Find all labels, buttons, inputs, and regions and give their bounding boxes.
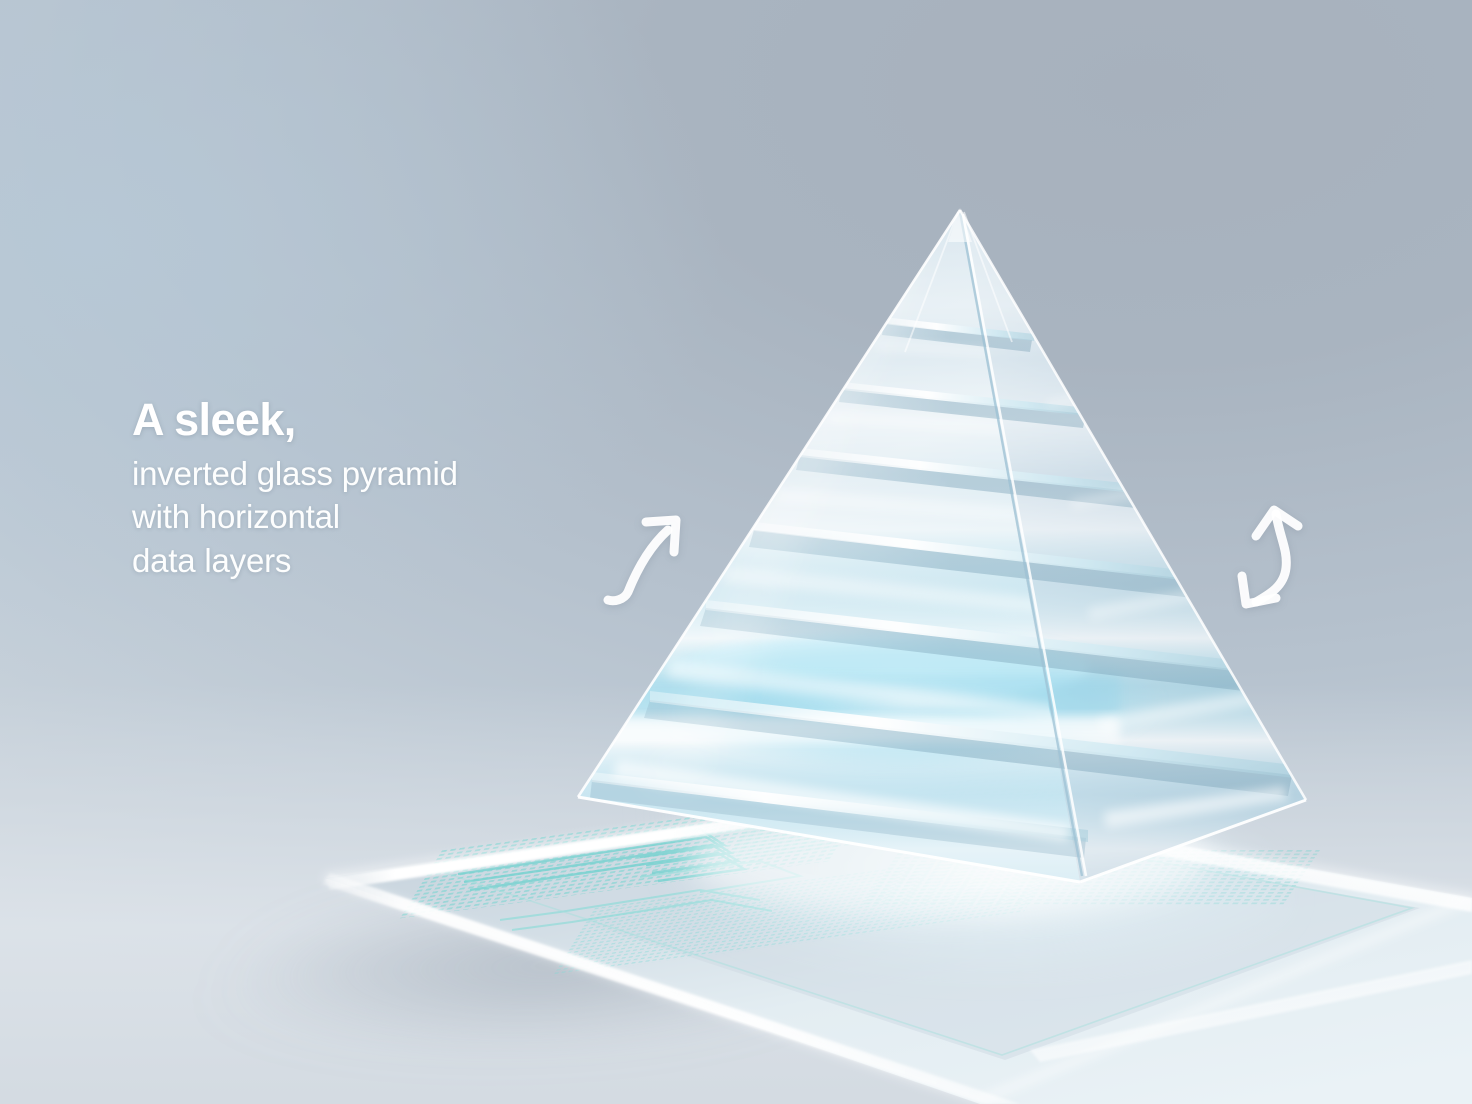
caption-block: A sleek, inverted glass pyramid with hor… — [132, 396, 652, 582]
caption-headline: A sleek, — [132, 396, 652, 444]
curved-arrow-up-right-icon — [596, 500, 692, 612]
double-headed-s-curve-arrow-icon — [1228, 494, 1328, 626]
caption-line-4: data layers — [132, 539, 652, 583]
scene-canvas: A sleek, inverted glass pyramid with hor… — [0, 0, 1472, 1104]
caption-line-3: with horizontal — [132, 495, 652, 539]
caption-line-2: inverted glass pyramid — [132, 452, 652, 496]
